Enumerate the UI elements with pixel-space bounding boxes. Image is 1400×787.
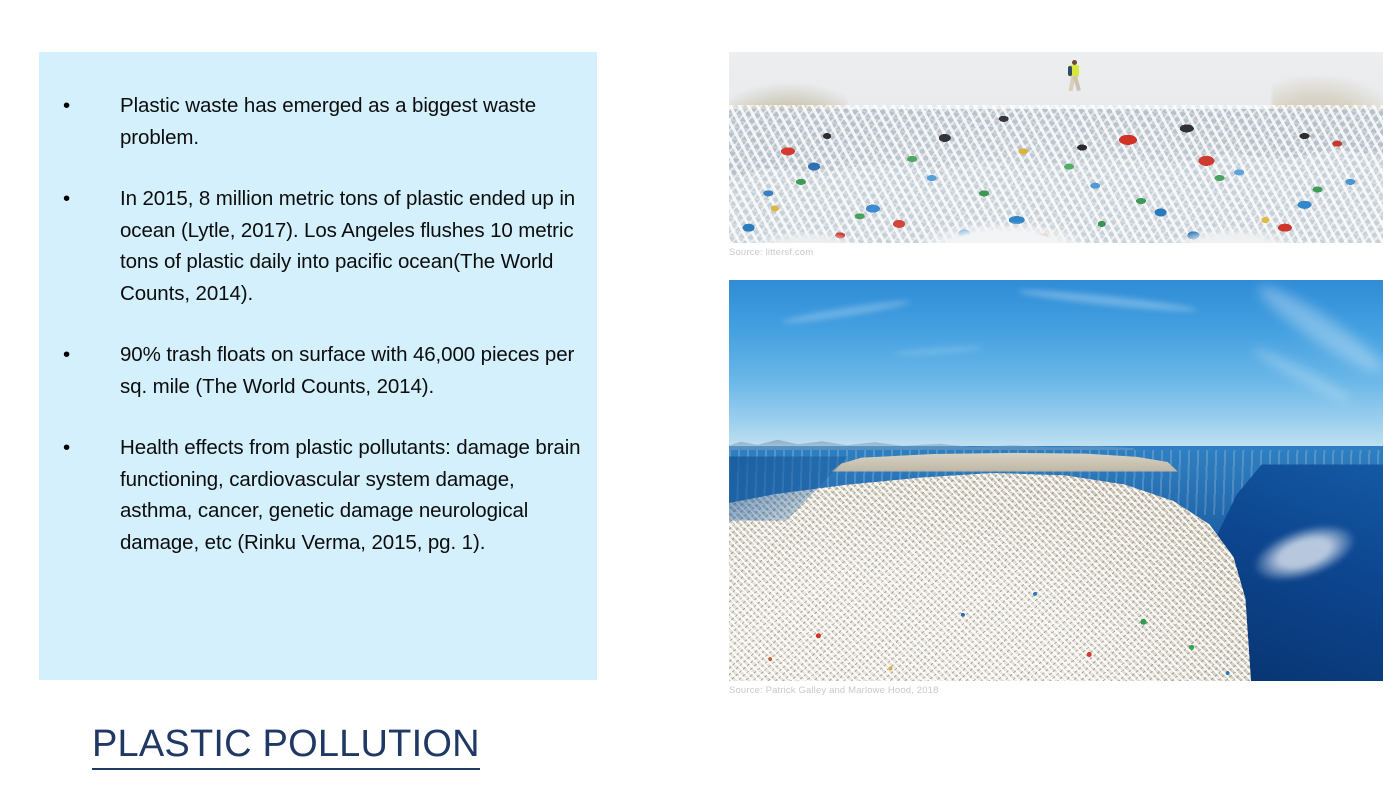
bullet-point-icon: • [63,90,77,122]
bullet-list: • Plastic waste has emerged as a biggest… [63,90,587,558]
slide-canvas: • Plastic waste has emerged as a biggest… [0,0,1400,787]
bullet-text: In 2015, 8 million metric tons of plasti… [120,183,587,309]
worker-leg-back [1073,75,1080,90]
list-item: • Health effects from plastic pollutants… [63,432,587,558]
list-item: • 90% trash floats on surface with 46,00… [63,339,587,402]
figure-ocean: Source: Patrick Galley and Marlowe Hood,… [729,280,1383,697]
bullet-text: Health effects from plastic pollutants: … [120,432,587,558]
bullet-point-icon: • [63,432,77,464]
ocean-photo [729,280,1383,681]
list-item: • Plastic waste has emerged as a biggest… [63,90,587,153]
bullet-text: Plastic waste has emerged as a biggest w… [120,90,587,153]
landfill-photo [729,52,1383,243]
worker-head [1072,60,1077,65]
foreground-plastic-bags [729,201,1383,243]
bullet-point-icon: • [63,183,77,215]
list-item: • In 2015, 8 million metric tons of plas… [63,183,587,309]
bullet-text: 90% trash floats on surface with 46,000 … [120,339,587,402]
figure-landfill: Source: littersf.com [729,52,1383,259]
content-panel: • Plastic waste has emerged as a biggest… [39,52,597,680]
worker-backpack [1068,66,1072,76]
figure-caption: Source: Patrick Galley and Marlowe Hood,… [729,685,1383,697]
bullet-point-icon: • [63,339,77,371]
worker-figure-icon [1066,60,1084,94]
figure-caption: Source: littersf.com [729,247,1383,259]
page-title: PLASTIC POLLUTION [92,722,480,770]
title-container: PLASTIC POLLUTION [92,722,480,770]
